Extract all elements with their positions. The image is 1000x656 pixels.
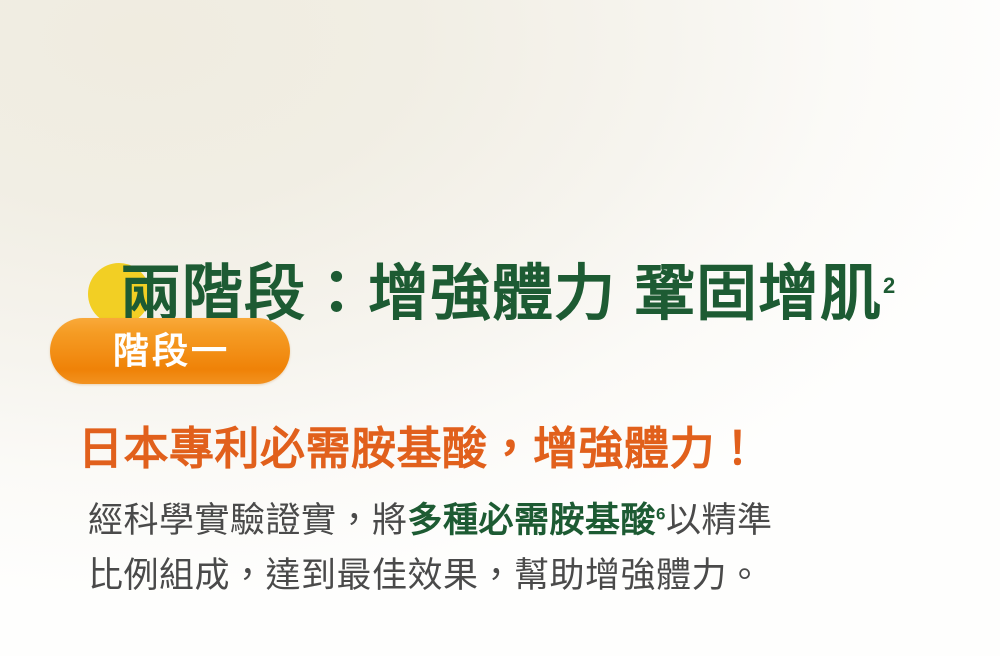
body-line1-highlight: 多種必需胺基酸 (408, 501, 657, 540)
body-line1-lead: 經科學實驗證實，將 (88, 501, 408, 540)
headline: 日本專利必需胺基酸，增強體力！ (78, 424, 761, 474)
page-title-superscript: 2 (883, 273, 896, 298)
stage-badge-label: 階段一 (110, 333, 230, 369)
title-block: 兩階段：增強體力 鞏固增肌2 (0, 128, 1000, 240)
page-title: 兩階段：增強體力 鞏固增肌2 (120, 261, 896, 327)
stage-badge: 階段一 (50, 318, 290, 384)
body-copy: 經科學實驗證實，將多種必需胺基酸6以精準比例組成，達到最佳效果，幫助增強體力。 (88, 494, 928, 603)
body-line2: 比例組成，達到最佳效果，幫助增強體力。 (88, 556, 763, 595)
page-title-text: 兩階段：增強體力 鞏固增肌 (120, 259, 882, 327)
promo-panel: 兩階段：增強體力 鞏固增肌2 階段一 日本專利必需胺基酸，增強體力！ 經科學實驗… (0, 0, 1000, 656)
body-line1-superscript: 6 (656, 504, 666, 523)
body-line1-tail: 以精準 (666, 501, 773, 540)
